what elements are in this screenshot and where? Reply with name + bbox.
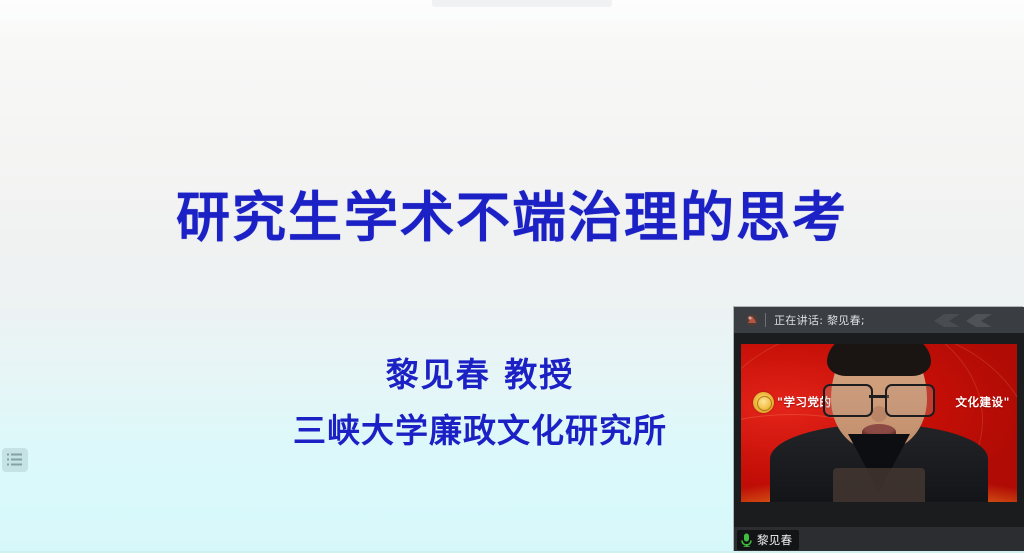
participant-name-badge: 黎见春 [737,530,799,550]
participant-video-image [774,350,984,502]
titlebar-divider [765,313,766,327]
video-stream[interactable]: "学习党的二十大精 文化建设" [741,344,1017,502]
video-thumbnail-panel[interactable]: 正在讲话: 黎见春; "学习党的二十大精 [734,307,1024,553]
video-panel-footer: 黎见春 [734,527,1024,553]
party-emblem-icon [753,392,774,413]
chevron-left-icon[interactable] [932,312,962,328]
speaker-avatar-icon [741,307,763,333]
chevron-left-icon[interactable] [964,312,994,328]
collapsed-toolbar-hint[interactable] [432,0,612,7]
video-panel-titlebar[interactable]: 正在讲话: 黎见春; [734,307,1024,333]
participant-name-label: 黎见春 [757,532,792,548]
speaking-status-label: 正在讲话: 黎见春; [774,312,865,328]
microphone-on-icon[interactable] [740,533,753,548]
glasses-icon [823,384,935,414]
page-title: 研究生学术不端治理的思考 [0,186,1024,250]
screen-share-stage: 研究生学术不端治理的思考 黎见春 教授 三峡大学廉政文化研究所 [0,0,1024,553]
top-edge-band [0,13,1024,19]
slide-outline-button[interactable] [2,448,28,472]
video-frame[interactable]: "学习党的二十大精 文化建设" [734,333,1024,527]
video-panel-collapse-controls[interactable] [932,311,998,329]
list-outline-icon [7,453,23,467]
